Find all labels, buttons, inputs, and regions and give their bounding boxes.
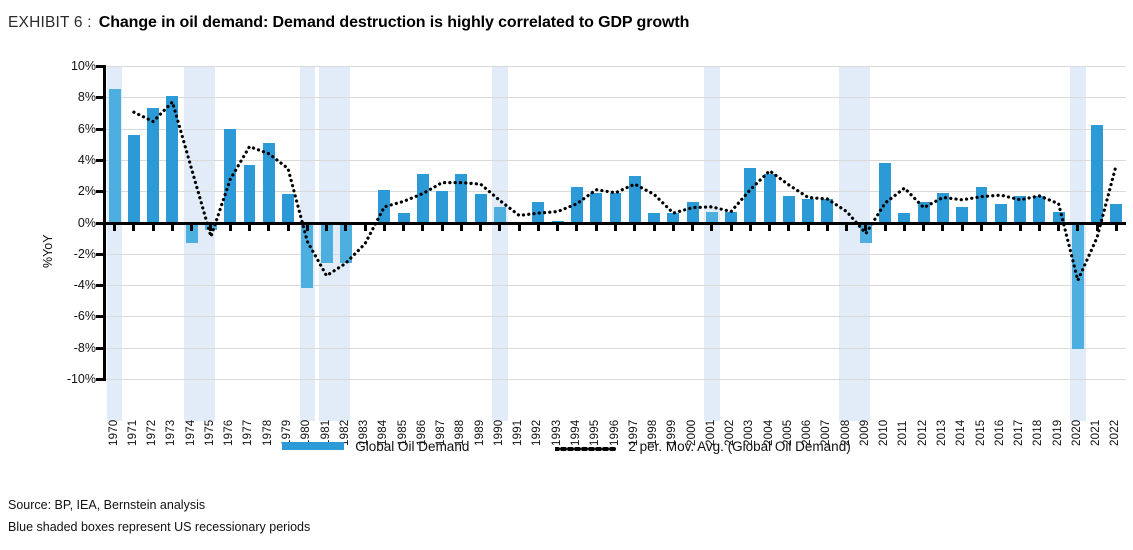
x-axis-tickmark bbox=[498, 224, 501, 231]
x-axis-tickmark bbox=[884, 224, 887, 231]
x-axis-tickmark bbox=[460, 224, 463, 231]
x-axis-tickmark bbox=[402, 224, 405, 231]
y-axis-tickmark bbox=[96, 159, 106, 162]
x-axis-tickmark bbox=[267, 224, 270, 231]
y-axis-tickmark bbox=[96, 253, 106, 256]
y-axis-tickmark bbox=[96, 96, 106, 99]
chart-legend: Global Oil Demand 2 per. Mov. Avg. (Glob… bbox=[0, 432, 1133, 460]
y-axis-tickmark bbox=[96, 128, 106, 131]
y-axis-tick-label: 10% bbox=[71, 59, 96, 73]
x-axis-tickmark bbox=[633, 224, 636, 231]
x-axis-tickmark bbox=[209, 224, 212, 231]
y-axis-tickmark bbox=[96, 378, 106, 381]
y-axis-tick-label: 4% bbox=[78, 153, 96, 167]
x-axis-tickmark bbox=[190, 224, 193, 231]
x-axis-tickmark bbox=[903, 224, 906, 231]
exhibit-number-label: EXHIBIT 6 : bbox=[8, 14, 92, 32]
x-axis-tickmark bbox=[864, 224, 867, 231]
x-axis-tickmark bbox=[132, 224, 135, 231]
x-axis-tickmark bbox=[1096, 224, 1099, 231]
x-axis-tickmark bbox=[922, 224, 925, 231]
x-axis-tickmark bbox=[325, 224, 328, 231]
x-axis-tickmark bbox=[421, 224, 424, 231]
legend-label-moving-average: 2 per. Mov. Avg. (Global Oil Demand) bbox=[628, 439, 850, 454]
x-axis-tickmark bbox=[1076, 224, 1079, 231]
y-axis-tickmark bbox=[96, 315, 106, 318]
exhibit-header: EXHIBIT 6 : Change in oil demand: Demand… bbox=[8, 8, 1125, 38]
x-axis-tickmark bbox=[152, 224, 155, 231]
x-axis-tickmark bbox=[710, 224, 713, 231]
recession-note: Blue shaded boxes represent US recession… bbox=[8, 520, 310, 534]
x-axis-tickmark bbox=[807, 224, 810, 231]
x-axis-tickmark bbox=[171, 224, 174, 231]
source-note: Source: BP, IEA, Bernstein analysis bbox=[8, 498, 310, 512]
page-title: Change in oil demand: Demand destruction… bbox=[99, 14, 690, 32]
y-axis-tick-label: -8% bbox=[74, 341, 96, 355]
chart-container: %YoY 10%8%6%4%2%0%-2%-4%-6%-8%-10% 19701… bbox=[0, 46, 1133, 446]
x-axis-tickmark bbox=[595, 224, 598, 231]
x-axis-tickmark bbox=[749, 224, 752, 231]
x-axis-tickmark bbox=[980, 224, 983, 231]
x-axis-tickmark bbox=[575, 224, 578, 231]
x-axis-tickmark bbox=[441, 224, 444, 231]
x-axis-tickmark bbox=[556, 224, 559, 231]
x-axis-tickmark bbox=[672, 224, 675, 231]
y-axis-tick-label: 2% bbox=[78, 184, 96, 198]
x-axis-tickmark bbox=[826, 224, 829, 231]
x-axis-tickmark bbox=[248, 224, 251, 231]
x-axis-tickmark bbox=[229, 224, 232, 231]
x-axis-tickmark bbox=[999, 224, 1002, 231]
y-axis-tick-label: -10% bbox=[67, 372, 96, 386]
y-axis-tickmark bbox=[96, 222, 106, 225]
x-axis-tickmark bbox=[1115, 224, 1118, 231]
x-axis-tickmark bbox=[653, 224, 656, 231]
y-axis-tick-label: -2% bbox=[74, 247, 96, 261]
y-axis-tick-label: 0% bbox=[78, 216, 96, 230]
y-axis-tick-label: -6% bbox=[74, 309, 96, 323]
x-axis-tickmark bbox=[364, 224, 367, 231]
x-axis-tickmark bbox=[1038, 224, 1041, 231]
x-axis-tickmark bbox=[344, 224, 347, 231]
x-axis-tickmark bbox=[518, 224, 521, 231]
bar-color-swatch-icon bbox=[282, 442, 344, 450]
x-axis-tickmark bbox=[768, 224, 771, 231]
gridline bbox=[105, 379, 1126, 380]
legend-item-moving-average[interactable]: 2 per. Mov. Avg. (Global Oil Demand) bbox=[555, 439, 850, 454]
y-axis-tick-label: 8% bbox=[78, 90, 96, 104]
dotted-line-swatch-icon bbox=[555, 441, 617, 451]
x-axis-tickmark bbox=[306, 224, 309, 231]
x-axis-tickmark bbox=[383, 224, 386, 231]
x-axis-tickmark bbox=[845, 224, 848, 231]
x-axis-tickmark bbox=[941, 224, 944, 231]
legend-item-bar[interactable]: Global Oil Demand bbox=[282, 439, 469, 454]
y-axis-tickmark bbox=[96, 347, 106, 350]
x-axis-tickmark bbox=[1057, 224, 1060, 231]
x-axis-tickmark bbox=[287, 224, 290, 231]
x-axis-tickmark bbox=[537, 224, 540, 231]
y-axis-tickmark bbox=[96, 284, 106, 287]
x-axis-tickmark bbox=[614, 224, 617, 231]
y-axis-tickmark bbox=[96, 65, 106, 68]
x-axis-tickmark bbox=[113, 224, 116, 231]
x-axis-tickmark bbox=[479, 224, 482, 231]
y-axis-tick-label: -4% bbox=[74, 278, 96, 292]
moving-average-polyline bbox=[134, 102, 1116, 280]
chart-footnotes: Source: BP, IEA, Bernstein analysis Blue… bbox=[8, 498, 310, 542]
x-axis-tickmark bbox=[691, 224, 694, 231]
plot-area bbox=[105, 66, 1126, 379]
x-axis-tickmark bbox=[1019, 224, 1022, 231]
y-axis-tick-label: 6% bbox=[78, 122, 96, 136]
x-axis-tickmark bbox=[961, 224, 964, 231]
y-axis-tickmark bbox=[96, 190, 106, 193]
x-axis-tickmarks bbox=[105, 224, 1126, 231]
y-axis-tick-labels: 10%8%6%4%2%0%-2%-4%-6%-8%-10% bbox=[46, 46, 104, 446]
legend-label-bar: Global Oil Demand bbox=[355, 439, 469, 454]
x-axis-tickmark bbox=[730, 224, 733, 231]
x-axis-tickmark bbox=[787, 224, 790, 231]
